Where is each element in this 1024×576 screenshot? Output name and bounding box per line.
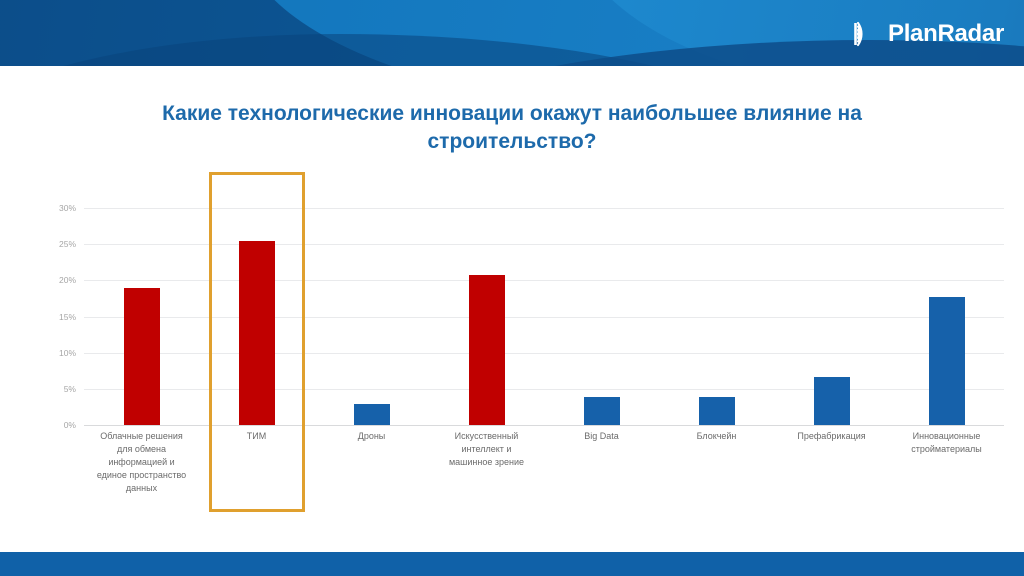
page-title: Какие технологические инновации окажут н… [112, 100, 912, 157]
bar [354, 404, 390, 425]
logo-wordmark: PlanRadar [888, 22, 1004, 46]
x-axis-label-line: для обмена [87, 443, 196, 456]
bar-column [659, 208, 774, 425]
y-axis-tick-label: 20% [59, 275, 76, 285]
bar [469, 275, 505, 425]
bar-column [544, 208, 659, 425]
y-axis-tick-label: 5% [64, 384, 76, 394]
x-axis-label-line: единое пространство [87, 469, 196, 482]
bar-chart: 0%5%10%15%20%25%30% Облачные решениядля … [0, 165, 1024, 525]
y-axis-tick-label: 25% [59, 239, 76, 249]
bar-column [314, 208, 429, 425]
x-axis-label-line: Дроны [317, 430, 426, 443]
bar-column [84, 208, 199, 425]
x-axis-label-line: Префабрикация [777, 430, 886, 443]
x-axis-label-line: стройматериалы [892, 443, 1001, 456]
planradar-logo: PlanRadar [851, 19, 1004, 49]
x-axis-label-line: информацией и [87, 456, 196, 469]
x-axis-label: Префабрикация [774, 430, 889, 495]
x-axis-label: Big Data [544, 430, 659, 495]
x-axis-label-line: Облачные решения [87, 430, 196, 443]
x-axis-label: Инновационныестройматериалы [889, 430, 1004, 495]
highlight-box-tim [209, 172, 305, 512]
x-axis-label: Дроны [314, 430, 429, 495]
x-axis-label-line: Big Data [547, 430, 656, 443]
x-axis-label-line: Инновационные [892, 430, 1001, 443]
x-axis-label-line: интеллект и [432, 443, 541, 456]
x-axis-label: Облачные решениядля обменаинформацией ие… [84, 430, 199, 495]
y-axis-tick-label: 15% [59, 312, 76, 322]
x-axis-label-line: Искусственный [432, 430, 541, 443]
bar-column [429, 208, 544, 425]
x-axis-label-line: данных [87, 482, 196, 495]
bar-column [889, 208, 1004, 425]
x-axis-label: Блокчейн [659, 430, 774, 495]
bar-column [774, 208, 889, 425]
x-axis-label-line: машинное зрение [432, 456, 541, 469]
bar [584, 397, 620, 425]
footer-bar [0, 552, 1024, 576]
bar [814, 377, 850, 425]
y-axis-tick-label: 10% [59, 348, 76, 358]
y-axis-tick-label: 0% [64, 420, 76, 430]
x-axis-label-line: Блокчейн [662, 430, 771, 443]
bar [929, 297, 965, 425]
bar [124, 288, 160, 425]
bar [699, 397, 735, 425]
y-axis-tick-label: 30% [59, 203, 76, 213]
x-axis-label: Искусственныйинтеллект имашинное зрение [429, 430, 544, 495]
radar-waves-icon [851, 19, 881, 49]
